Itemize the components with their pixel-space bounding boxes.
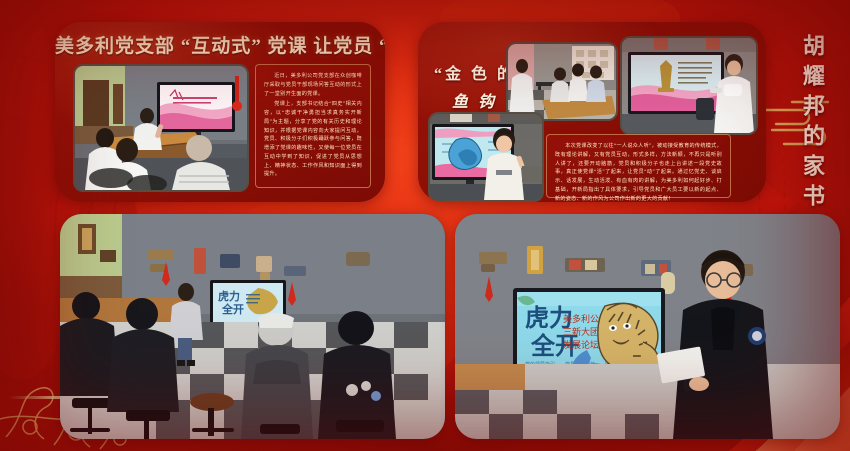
photo-member-storytelling xyxy=(428,112,544,202)
photo-speaker-presenting xyxy=(620,36,758,135)
svg-text:发展论坛: 发展论坛 xyxy=(563,339,599,351)
photo-audience-tiger-forum: 虎力全开 xyxy=(60,214,445,439)
panel-bottom-right: 虎力全开 美多利公司 三新大团结 发展论坛 党的领导指引党员先锋模范团结奋进新篇 xyxy=(455,214,840,439)
page-title: 美多利党支部 “互动式” 党课 让党员 “动” 起来 xyxy=(55,31,385,58)
svg-text:虎力: 虎力 xyxy=(218,289,240,303)
panel-bottom-left: 虎力全开 xyxy=(60,214,445,439)
paragraph: 近日，美多利公司党支部在众创咖啡厅采取与党员干部现场问答互动的形式上了一堂别开生… xyxy=(264,72,362,98)
poster-canvas: 美多利党支部 “互动式” 党课 让党员 “动” 起来 xyxy=(0,0,850,451)
svg-text:全开: 全开 xyxy=(221,302,244,316)
article-text-right: 本次党课改变了以往“一人说众人听”，被动接受教育的传统模式，既有理论讲解，又有党… xyxy=(546,134,731,198)
vertical-calligraphy-title: 胡耀邦的家书 xyxy=(792,34,828,214)
paragraph: 本次党课改变了以往“一人说众人听”，被动接受教育的传统模式，既有理论讲解，又有党… xyxy=(555,142,722,202)
photo-party-lecture-meeting xyxy=(73,64,249,192)
panel-top-right: “金 色 的” 鱼 钩 xyxy=(418,22,766,202)
photo-speaker-tiger-forum: 虎力全开 美多利公司 三新大团结 发展论坛 党的领导指引党员先锋模范团结奋进新篇 xyxy=(455,214,840,439)
photo-group-discussion xyxy=(506,42,618,121)
caption-golden-hook-line2: 鱼 钩 xyxy=(452,88,497,112)
photo-scene xyxy=(75,66,247,190)
article-text-left: 近日，美多利公司党支部在众创咖啡厅采取与党员干部现场问答互动的形式上了一堂别开生… xyxy=(255,64,371,188)
panel-top-left: 美多利党支部 “互动式” 党课 让党员 “动” 起来 xyxy=(55,22,385,202)
paragraph: 党课上，支部书记结合“四史”相关内容，以“忠诚干净勇担当求真务实开新局”为主题，… xyxy=(264,100,362,179)
